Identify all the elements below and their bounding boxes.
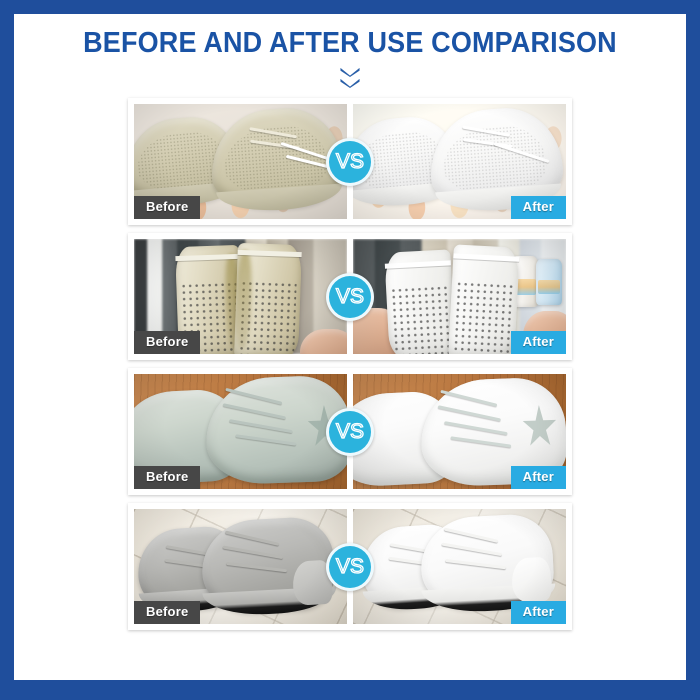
comparison-pair-4: Before <box>134 509 566 624</box>
chevron-down-icon-bottom <box>339 78 361 88</box>
shoelace <box>444 527 499 542</box>
shoelace <box>166 545 211 556</box>
comparison-rows: Before <box>14 98 686 630</box>
before-photo-3: Before <box>134 374 350 489</box>
shoe-right-clean <box>448 245 520 355</box>
after-photo-2: After <box>350 239 566 354</box>
comparison-pair-1: Before <box>134 104 566 219</box>
before-badge-3: Before <box>134 466 200 489</box>
comparison-row-1[interactable]: Before <box>128 98 572 225</box>
after-photo-3: After <box>350 374 566 489</box>
vs-badge-2: VS <box>326 273 374 321</box>
after-badge-1: After <box>511 196 566 219</box>
comparison-row-4[interactable]: Before <box>128 503 572 630</box>
shoe-stripe <box>385 260 451 268</box>
toe-cap <box>511 557 553 603</box>
vs-label: VS <box>336 421 364 442</box>
bottle-label <box>538 280 559 295</box>
shoelace <box>445 559 506 569</box>
shoelace <box>451 437 512 448</box>
shoelace <box>438 405 501 421</box>
shoelace <box>226 388 283 405</box>
chevron-down-double-icon <box>14 67 686 88</box>
perforation-texture <box>390 284 452 354</box>
after-badge-3: After <box>511 466 566 489</box>
star-logo <box>522 404 558 450</box>
shoelace <box>225 530 280 545</box>
before-badge-4: Before <box>134 601 200 624</box>
vs-badge-3: VS <box>326 408 374 456</box>
comparison-row-2[interactable]: Before <box>128 233 572 360</box>
shoe-left-clean <box>384 249 456 354</box>
before-photo-2: Before <box>134 239 350 354</box>
before-photo-1: Before <box>134 104 350 219</box>
comparison-row-3[interactable]: Before After <box>128 368 572 495</box>
before-badge-1: Before <box>134 196 200 219</box>
after-badge-4: After <box>511 601 566 624</box>
shoelace <box>223 403 286 419</box>
vs-badge-4: VS <box>326 543 374 591</box>
comparison-pair-3: Before After <box>134 374 566 489</box>
shoelace <box>223 545 283 559</box>
chevron-down-icon-top <box>339 67 361 77</box>
vs-badge-1: VS <box>326 138 374 186</box>
poster-header: BEFORE AND AFTER USE COMPARISON <box>14 14 686 88</box>
before-badge-2: Before <box>134 331 200 354</box>
shoelace <box>236 434 297 445</box>
shoe-stripe <box>453 254 519 262</box>
page-title: BEFORE AND AFTER USE COMPARISON <box>38 28 663 58</box>
after-photo-4: After <box>350 509 566 624</box>
poster-inner-frame: BEFORE AND AFTER USE COMPARISON <box>14 14 686 680</box>
shoelace <box>442 543 502 557</box>
comparison-pair-2: Before <box>134 239 566 354</box>
shoelace <box>444 421 507 435</box>
after-photo-1: After <box>350 104 566 219</box>
vs-label: VS <box>336 556 364 577</box>
shoelace <box>230 418 293 432</box>
comparison-poster: BEFORE AND AFTER USE COMPARISON <box>0 0 700 700</box>
shoelace <box>441 390 498 407</box>
vs-label: VS <box>336 286 364 307</box>
shoe-right-dirty <box>234 243 302 354</box>
after-badge-2: After <box>511 331 566 354</box>
detergent-bottle-blue <box>536 259 562 305</box>
vs-label: VS <box>336 151 364 172</box>
before-photo-4: Before <box>134 509 350 624</box>
shoelace <box>226 562 287 572</box>
perforation-texture <box>452 281 514 355</box>
